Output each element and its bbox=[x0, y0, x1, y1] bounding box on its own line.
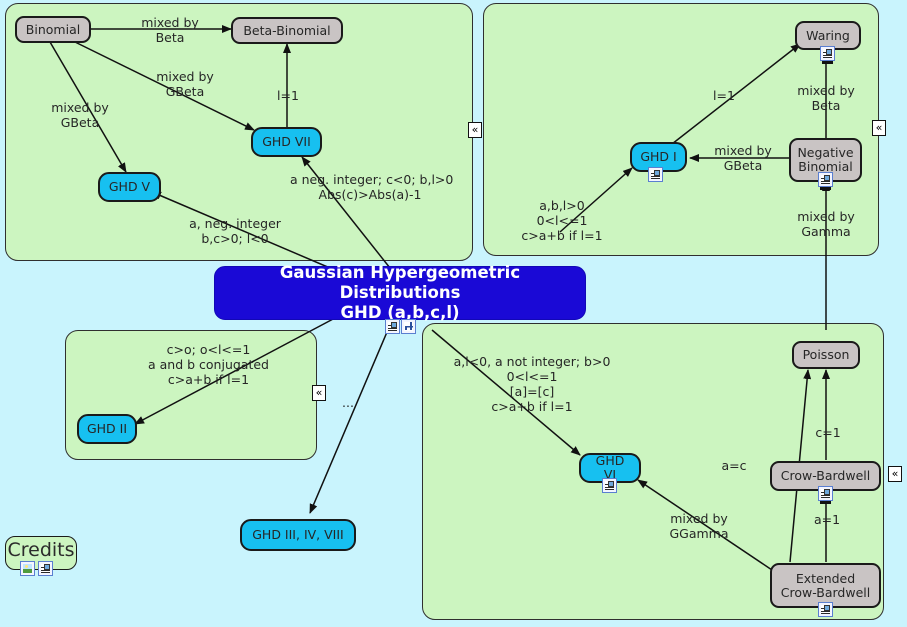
node-credits-label: Credits bbox=[7, 540, 74, 561]
node-crow-bardwell-label: Crow-Bardwell bbox=[781, 469, 870, 483]
note-icon[interactable] bbox=[38, 561, 53, 576]
node-binomial-label: Binomial bbox=[26, 23, 80, 37]
node-waring-icons[interactable] bbox=[820, 46, 835, 61]
node-negative-binomial-line1: Negative bbox=[797, 146, 853, 160]
note-icon[interactable] bbox=[385, 319, 400, 334]
note-icon[interactable] bbox=[818, 172, 833, 187]
node-ghd-vii-label: GHD VII bbox=[262, 135, 311, 149]
node-root-ghd[interactable]: Gaussian Hypergeometric Distributions GH… bbox=[214, 266, 586, 320]
node-ghd-iii-iv-viii[interactable]: GHD III, IV, VIII bbox=[240, 519, 356, 551]
tree-icon[interactable] bbox=[401, 319, 416, 334]
node-ghd-v-label: GHD V bbox=[109, 180, 150, 194]
node-negative-binomial-icons[interactable] bbox=[818, 172, 833, 187]
collapse-marker-bottom-left[interactable]: « bbox=[312, 385, 326, 401]
root-title-line1: Gaussian Hypergeometric Distributions bbox=[222, 263, 578, 303]
note-icon[interactable] bbox=[818, 602, 833, 617]
node-beta-binomial-label: Beta-Binomial bbox=[243, 24, 330, 38]
picture-icon[interactable] bbox=[20, 561, 35, 576]
node-waring-label: Waring bbox=[806, 29, 850, 43]
collapse-marker-top-left[interactable]: « bbox=[468, 122, 482, 138]
node-ghd-v[interactable]: GHD V bbox=[98, 172, 161, 202]
collapse-marker-top-right[interactable]: « bbox=[872, 120, 886, 136]
waring-icon-stand bbox=[822, 61, 833, 64]
node-credits-icons[interactable] bbox=[20, 561, 53, 576]
node-binomial[interactable]: Binomial bbox=[15, 16, 91, 43]
negative-binomial-icon-stand bbox=[820, 187, 831, 190]
node-poisson-label: Poisson bbox=[803, 348, 850, 362]
node-ghd-iii-iv-viii-label: GHD III, IV, VIII bbox=[252, 528, 344, 542]
node-root-icons[interactable] bbox=[385, 319, 416, 334]
crow-bardwell-icon-stand bbox=[820, 501, 831, 504]
node-ghd-i-icons[interactable] bbox=[648, 167, 663, 182]
edge-label-root-ghd-iii: ... bbox=[330, 395, 366, 410]
node-extended-crow-bardwell-line1: Extended bbox=[796, 572, 855, 586]
node-ghd-ii-label: GHD II bbox=[87, 422, 127, 436]
node-beta-binomial[interactable]: Beta-Binomial bbox=[231, 17, 343, 44]
node-poisson[interactable]: Poisson bbox=[792, 341, 860, 369]
node-ghd-ii[interactable]: GHD II bbox=[77, 414, 137, 444]
node-extended-crow-bardwell-icons[interactable] bbox=[818, 602, 833, 617]
node-ghd-vi-icons[interactable] bbox=[602, 478, 617, 493]
note-icon[interactable] bbox=[602, 478, 617, 493]
node-extended-crow-bardwell-line2: Crow-Bardwell bbox=[781, 586, 870, 600]
note-icon[interactable] bbox=[818, 486, 833, 501]
diagram-canvas: Binomial Beta-Binomial GHD VII GHD V War… bbox=[0, 0, 907, 627]
node-ghd-vii[interactable]: GHD VII bbox=[251, 127, 322, 157]
collapse-marker-bottom-right[interactable]: « bbox=[888, 466, 902, 482]
note-icon[interactable] bbox=[820, 46, 835, 61]
note-icon[interactable] bbox=[648, 167, 663, 182]
node-crow-bardwell-icons[interactable] bbox=[818, 486, 833, 501]
node-ghd-i-label: GHD I bbox=[640, 150, 676, 164]
